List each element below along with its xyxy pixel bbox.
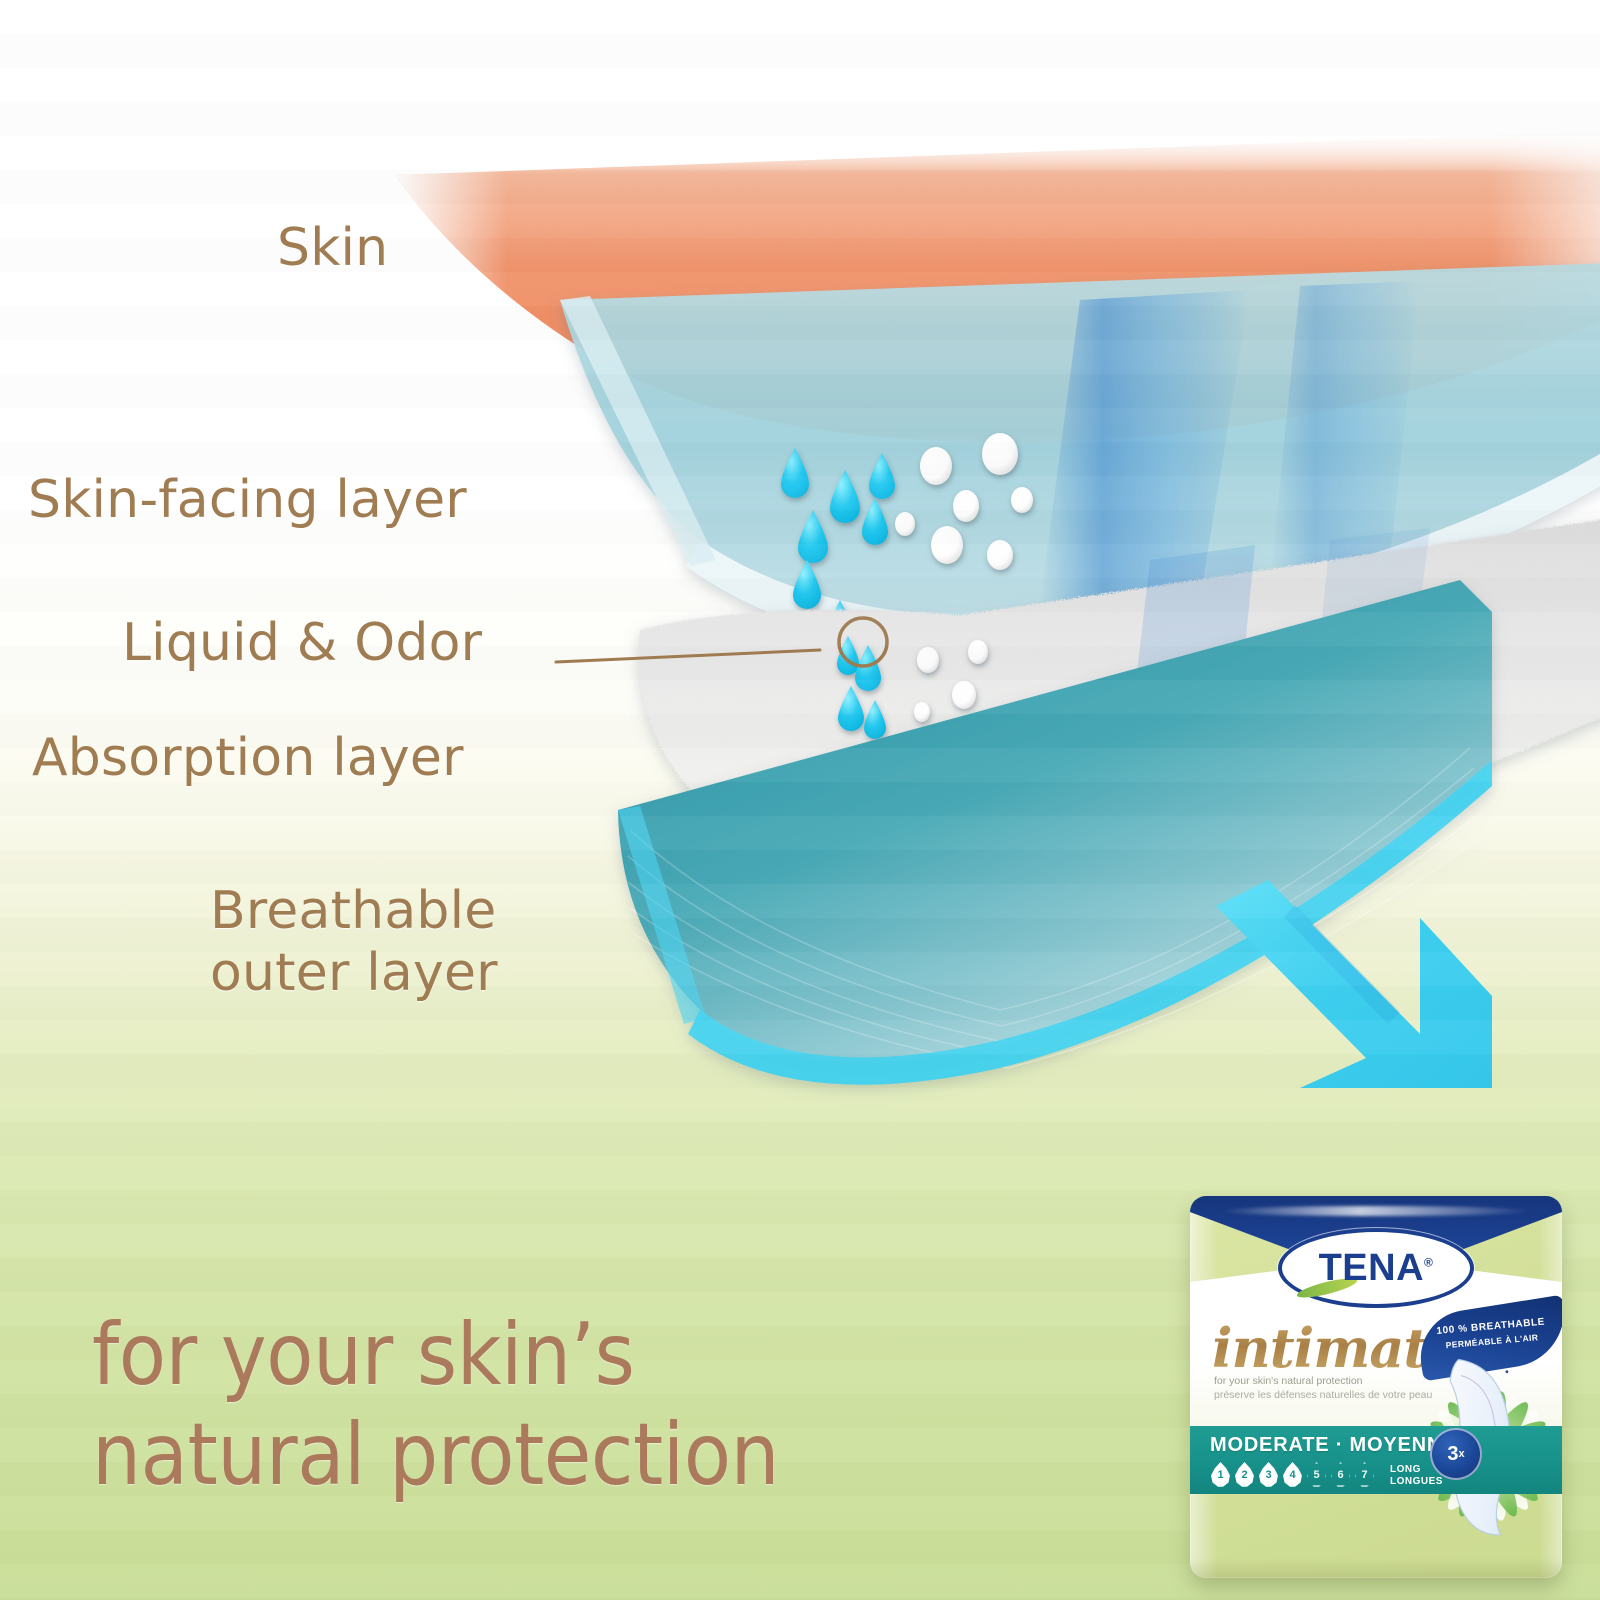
size-label-fr: LONGUES [1390, 1476, 1443, 1488]
drop-number: 2 [1241, 1469, 1247, 1481]
drop-number: 1 [1217, 1469, 1223, 1481]
headline-line-2: natural protection [92, 1405, 1092, 1505]
label-skin-facing-layer: Skin-facing layer [28, 470, 467, 530]
label-breathable-outer-layer: Breathable outer layer [210, 880, 630, 1004]
package-top-shine [1220, 1206, 1532, 1216]
label-breathable-line2: outer layer [210, 943, 498, 1003]
package-tagline-fr: préserve les défenses naturelles de votr… [1214, 1388, 1454, 1402]
package-bottom-shadow [1190, 1558, 1562, 1578]
triple-protection-badge: 3x [1430, 1428, 1482, 1480]
headline-line-1: for your skin’s [92, 1305, 1092, 1405]
drop-number: 4 [1289, 1469, 1295, 1481]
absorbency-level-en: MODERATE [1210, 1434, 1329, 1456]
brand-name: TENA [1319, 1247, 1424, 1289]
infographic-canvas: Skin Skin-facing layer Liquid & Odor Abs… [0, 0, 1600, 1600]
headline: for your skin’s natural protection [92, 1305, 1092, 1505]
brand-registered-mark: ® [1424, 1255, 1433, 1269]
absorbency-drop-scale: 1234567 [1210, 1462, 1375, 1487]
absorbency-drop-4: 4 [1282, 1462, 1303, 1487]
tena-logo-text: TENA® [1319, 1247, 1434, 1290]
package-tagline: for your skin's natural protection prése… [1214, 1374, 1454, 1402]
absorbency-drop-3: 3 [1258, 1462, 1279, 1487]
absorbency-drop-2: 2 [1234, 1462, 1255, 1487]
label-skin: Skin [277, 218, 388, 278]
drop-number: 3 [1265, 1469, 1271, 1481]
drop-number: 7 [1361, 1469, 1367, 1481]
absorbency-drop-7: 7 [1354, 1462, 1375, 1487]
badge-number: 3 [1447, 1443, 1458, 1466]
absorbency-drop-6: 6 [1330, 1462, 1351, 1487]
absorbency-drop-5: 5 [1306, 1462, 1327, 1487]
package-tagline-en: for your skin's natural protection [1214, 1374, 1454, 1388]
breathable-badge-text: 100 % BREATHABLE PERMÉABLE À L'AIR [1428, 1315, 1554, 1354]
product-package[interactable]: TENA® intimates® for your skin's natural… [1190, 1196, 1562, 1578]
label-absorption-layer: Absorption layer [32, 728, 464, 788]
drop-number: 5 [1313, 1469, 1319, 1481]
label-breathable-line1: Breathable [210, 881, 496, 941]
absorbency-level-label: MODERATE · MOYENNE [1210, 1434, 1456, 1457]
drop-number: 6 [1337, 1469, 1343, 1481]
absorbency-drop-1: 1 [1210, 1462, 1231, 1487]
absorbency-separator: · [1336, 1434, 1343, 1456]
label-liquid-and-odor: Liquid & Odor [122, 613, 482, 673]
tena-logo: TENA® [1282, 1232, 1470, 1304]
airflow-arrow [1216, 880, 1492, 1088]
badge-multiplier: x [1459, 1448, 1465, 1460]
